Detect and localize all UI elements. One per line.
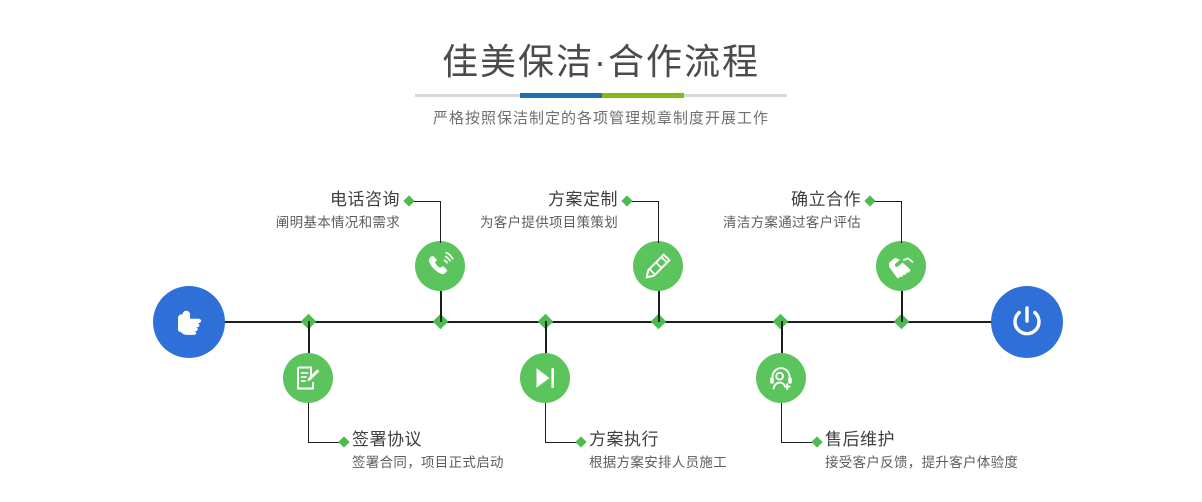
divider-green-segment [602,93,684,98]
title-divider [415,94,787,97]
play-execute-icon [531,364,559,392]
power-icon [1006,301,1048,343]
step-label-6: 售后维护 接受客户反馈，提升客户体验度 [825,430,1105,472]
page-title: 佳美保洁·合作流程 [0,0,1202,80]
connector-horizontal [874,201,902,202]
step-title: 方案执行 [589,430,849,450]
step-node-6[interactable] [756,353,806,403]
step-node-4[interactable] [520,353,570,403]
step-label-2: 签署协议 签署合同，项目正式启动 [352,430,612,472]
step-label-5: 确立合作 清洁方案通过客户评估 [611,190,861,232]
connector-vertical [901,201,902,243]
handshake-icon [886,251,916,281]
timeline-end-node [991,286,1063,358]
step-desc: 清洁方案通过客户评估 [611,213,861,232]
pointing-hand-icon [169,302,209,342]
step-desc: 接受客户反馈，提升客户体验度 [825,453,1105,472]
node-stem [781,321,783,353]
sign-document-icon [294,364,322,392]
step-node-2[interactable] [283,353,333,403]
connector-vertical [308,403,309,443]
step-title: 签署协议 [352,430,612,450]
step-label-3: 方案定制 为客户提供项目策策划 [368,190,618,232]
step-label-4: 方案执行 根据方案安排人员施工 [589,430,849,472]
step-desc: 根据方案安排人员施工 [589,453,849,472]
support-headset-icon [767,364,795,392]
connector-tip [864,195,875,206]
divider-blue-segment [520,93,602,98]
node-stem [545,321,547,353]
step-title: 方案定制 [368,190,618,210]
step-desc: 阐明基本情况和需求 [150,213,400,232]
connector-tip [338,436,349,447]
step-node-1[interactable] [415,241,465,291]
page-subtitle: 严格按照保洁制定的各项管理规章制度开展工作 [0,107,1202,128]
timeline-start-node [153,286,225,358]
step-label-1: 电话咨询 阐明基本情况和需求 [150,190,400,232]
step-title: 售后维护 [825,430,1105,450]
step-title: 确立合作 [611,190,861,210]
step-title: 电话咨询 [150,190,400,210]
node-stem [308,321,310,353]
header: 佳美保洁·合作流程 [0,0,1202,80]
flow-diagram-page: 佳美保洁·合作流程 严格按照保洁制定的各项管理规章制度开展工作 [0,0,1202,502]
connector-vertical [545,403,546,443]
connector-vertical [781,403,782,443]
step-node-5[interactable] [876,241,926,291]
pencil-edit-icon [643,251,673,281]
step-node-3[interactable] [633,241,683,291]
step-desc: 为客户提供项目策策划 [368,213,618,232]
phone-call-icon [425,251,455,281]
step-desc: 签署合同，项目正式启动 [352,453,612,472]
